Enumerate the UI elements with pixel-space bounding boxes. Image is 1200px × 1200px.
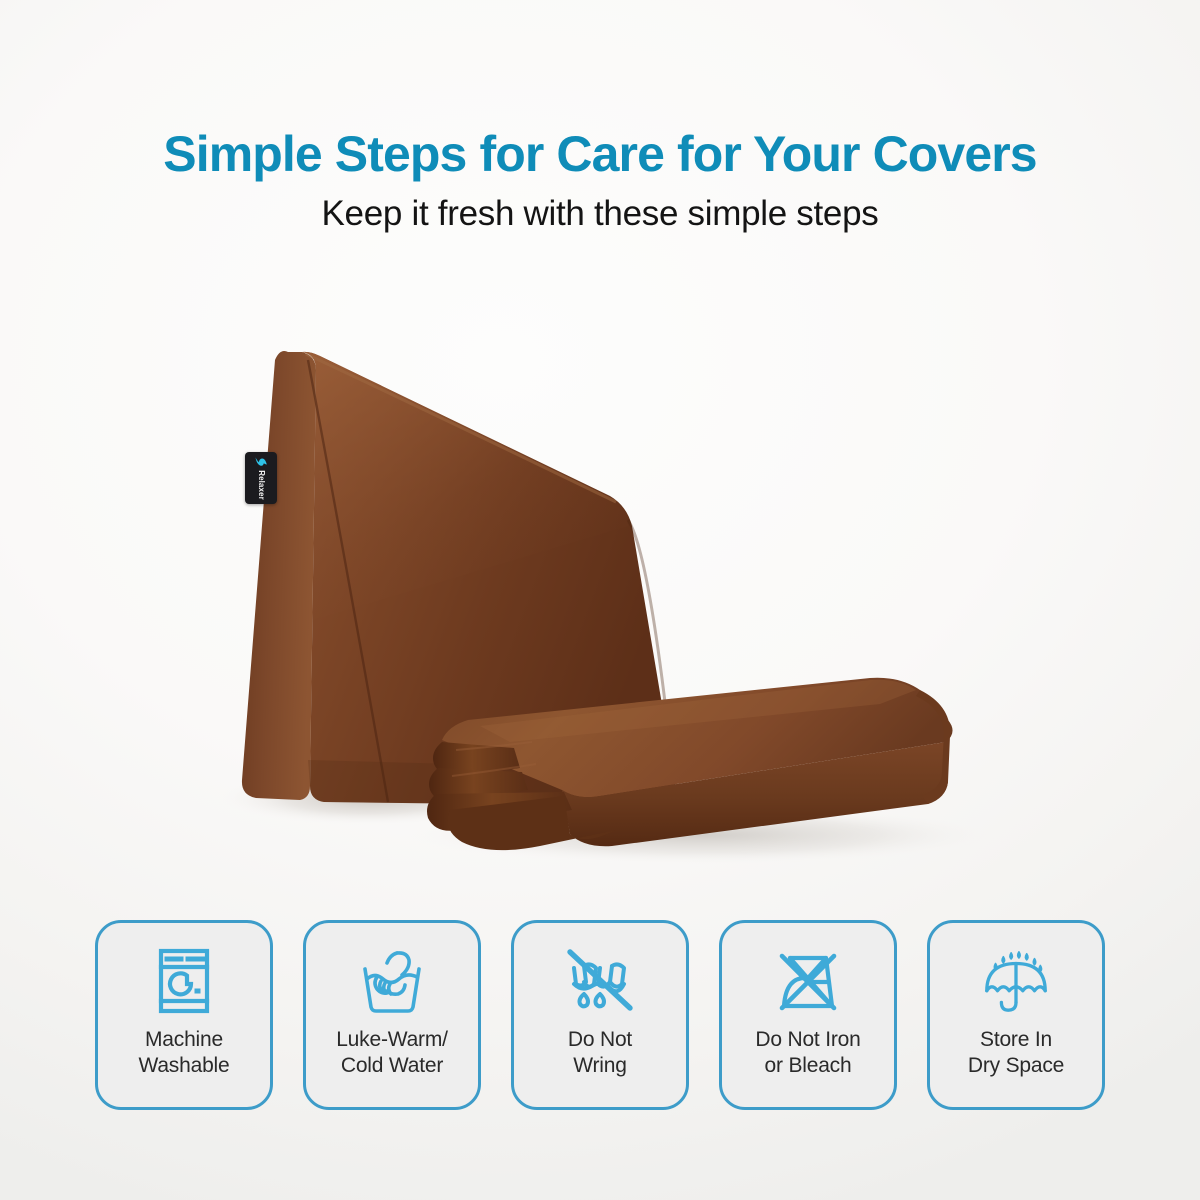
care-card-do-not-iron-or-bleach[interactable]: Do Not Iron or Bleach xyxy=(719,920,897,1110)
care-card-label: Do Not Wring xyxy=(516,1027,684,1080)
care-card-label: Machine Washable xyxy=(100,1027,268,1080)
hand-wash-basin-icon xyxy=(355,945,429,1017)
brand-name: Relaxer xyxy=(257,470,265,500)
care-card-label: Store In Dry Space xyxy=(932,1027,1100,1080)
care-instruction-cards: Machine Washable xyxy=(95,920,1105,1110)
do-not-bleach-icon xyxy=(771,945,845,1017)
page-title: Simple Steps for Care for Your Covers xyxy=(0,128,1200,181)
washing-machine-icon xyxy=(147,945,221,1017)
care-card-label: Luke-Warm/ Cold Water xyxy=(308,1027,476,1080)
header: Simple Steps for Care for Your Covers Ke… xyxy=(0,128,1200,234)
care-card-lukewarm-cold-water[interactable]: Luke-Warm/ Cold Water xyxy=(303,920,481,1110)
care-card-label: Do Not Iron or Bleach xyxy=(724,1027,892,1080)
brand-tag: Relaxer xyxy=(245,452,277,504)
umbrella-dry-storage-icon xyxy=(979,945,1053,1017)
care-card-store-in-dry-space[interactable]: Store In Dry Space xyxy=(927,920,1105,1110)
product-hero-image xyxy=(180,290,1020,870)
product-illustration xyxy=(180,290,1020,870)
care-card-machine-washable[interactable]: Machine Washable xyxy=(95,920,273,1110)
care-instructions-infographic: Simple Steps for Care for Your Covers Ke… xyxy=(0,0,1200,1200)
do-not-wring-icon xyxy=(563,945,637,1017)
wedge-side-panel xyxy=(242,351,316,800)
page-subtitle: Keep it fresh with these simple steps xyxy=(0,195,1200,234)
relaxer-wave-logo-icon xyxy=(254,456,268,468)
care-card-do-not-wring[interactable]: Do Not Wring xyxy=(511,920,689,1110)
